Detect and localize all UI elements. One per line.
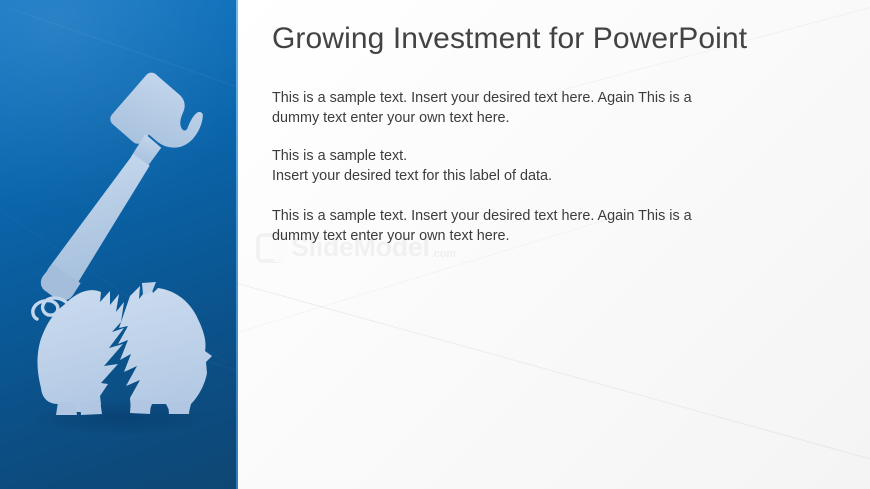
piggy-bank-right-half	[118, 282, 212, 414]
body-paragraph-1: This is a sample text. Insert your desir…	[272, 89, 766, 128]
body-paragraph-2-line-1: This is a sample text.	[272, 147, 766, 167]
watermark-tld: .com	[431, 248, 457, 260]
body-paragraph-1-line-2: dummy text enter your own text here.	[272, 109, 766, 129]
body-paragraph-2: This is a sample text. Insert your desir…	[272, 147, 766, 186]
hammer-and-broken-piggy-bank-illustration	[0, 0, 238, 489]
body-paragraph-3-line-1: This is a sample text. Insert your desir…	[272, 207, 766, 227]
background-diagonal-line-1	[238, 272, 870, 489]
presentation-slide: Growing Investment for PowerPoint This i…	[0, 0, 870, 489]
content-panel: Growing Investment for PowerPoint This i…	[238, 0, 870, 489]
body-paragraph-2-line-2: Insert your desired text for this label …	[272, 167, 766, 187]
body-paragraph-3: This is a sample text. Insert your desir…	[272, 207, 766, 246]
body-paragraph-3-line-2: dummy text enter your own text here.	[272, 227, 766, 247]
piggy-bank-left-half	[37, 290, 124, 415]
visual-panel	[0, 0, 238, 489]
page-title: Growing Investment for PowerPoint	[272, 20, 832, 58]
body-paragraph-1-line-1: This is a sample text. Insert your desir…	[272, 89, 766, 109]
claw-hammer-icon	[0, 69, 219, 306]
